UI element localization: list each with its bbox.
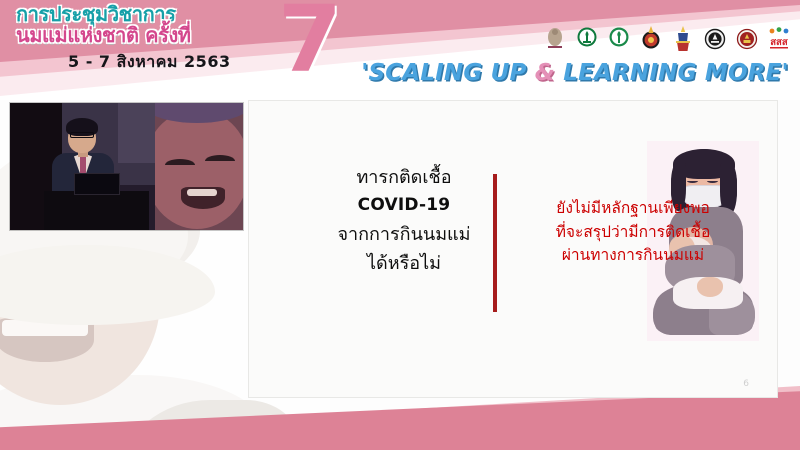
red-divider-rule [493, 174, 497, 312]
video-speaker-glasses [70, 132, 94, 138]
question-line-4: ได้หรือไม่ [324, 249, 484, 278]
question-line-2: COVID-19 [324, 192, 484, 220]
sponsor-logos: สสส [541, 24, 792, 54]
slide-panel: ทารกติดเชื้อ COVID-19 จากการกินนมแม่ ได้… [248, 100, 778, 398]
logo-thaihealth: สสส [765, 24, 792, 54]
logo-royal-emblem [541, 24, 568, 54]
presenter-video-thumbnail[interactable] [10, 103, 243, 230]
conference-tagline: 'SCALING UP & LEARNING MORE' [360, 60, 790, 86]
video-baby-face [155, 111, 243, 229]
logo-royal-crown-1 [637, 24, 664, 54]
conference-title-line2: นมแม่แห่งชาติ ครั้งที่ [16, 25, 286, 46]
answer-line-1: ยังไม่มีหลักฐานเพียงพอ [507, 197, 759, 221]
tagline-part2: LEARNING MORE' [555, 60, 789, 86]
video-podium [44, 191, 149, 230]
video-curtain [118, 103, 155, 163]
slide-page-number: 6 [743, 379, 749, 389]
question-line-3: จากการกินนมแม่ [324, 220, 484, 249]
question-line-1: ทารกติดเชื้อ [324, 163, 484, 192]
answer-text-block: ยังไม่มีหลักฐานเพียงพอ ที่จะสรุปว่ามีการ… [507, 197, 759, 268]
svg-text:สสส: สสส [770, 37, 788, 48]
illus-hand [697, 277, 723, 297]
conference-title: การประชุมวิชาการ นมแม่แห่งชาติ ครั้งที่ … [16, 4, 286, 75]
video-baby-eye-right [205, 155, 235, 161]
video-laptop [74, 173, 120, 195]
illus-eye-left [687, 179, 698, 183]
logo-ministry-public-health [573, 24, 600, 54]
tagline-ampersand: & [535, 60, 555, 86]
tagline-part1: 'SCALING UP [361, 60, 535, 86]
edition-number: 7 [278, 0, 340, 86]
video-speaker-region [10, 103, 155, 230]
logo-department-health [605, 24, 632, 54]
logo-red-seal [733, 24, 760, 54]
question-text-block: ทารกติดเชื้อ COVID-19 จากการกินนมแม่ ได้… [324, 163, 484, 278]
answer-line-3: ผ่านทางการกินนมแม่ [507, 244, 759, 268]
conference-date: 5 - 7 สิงหาคม 2563 [16, 50, 286, 75]
video-baby-hat [155, 103, 243, 123]
video-baby-eye-left [165, 159, 195, 165]
answer-line-2: ที่จะสรุปว่ามีการติดเชื้อ [507, 221, 759, 245]
video-baby-region [155, 103, 243, 230]
logo-black-seal [701, 24, 728, 54]
conference-header: 7 การประชุมวิชาการ นมแม่แห่งชาติ ครั้งที… [0, 0, 800, 100]
video-baby-teeth [187, 189, 217, 196]
slide-screenshot: 7 การประชุมวิชาการ นมแม่แห่งชาติ ครั้งที… [0, 0, 800, 450]
conference-title-line1: การประชุมวิชาการ [16, 4, 286, 25]
illus-eye-right [707, 179, 718, 183]
logo-royal-crown-2 [669, 24, 696, 54]
